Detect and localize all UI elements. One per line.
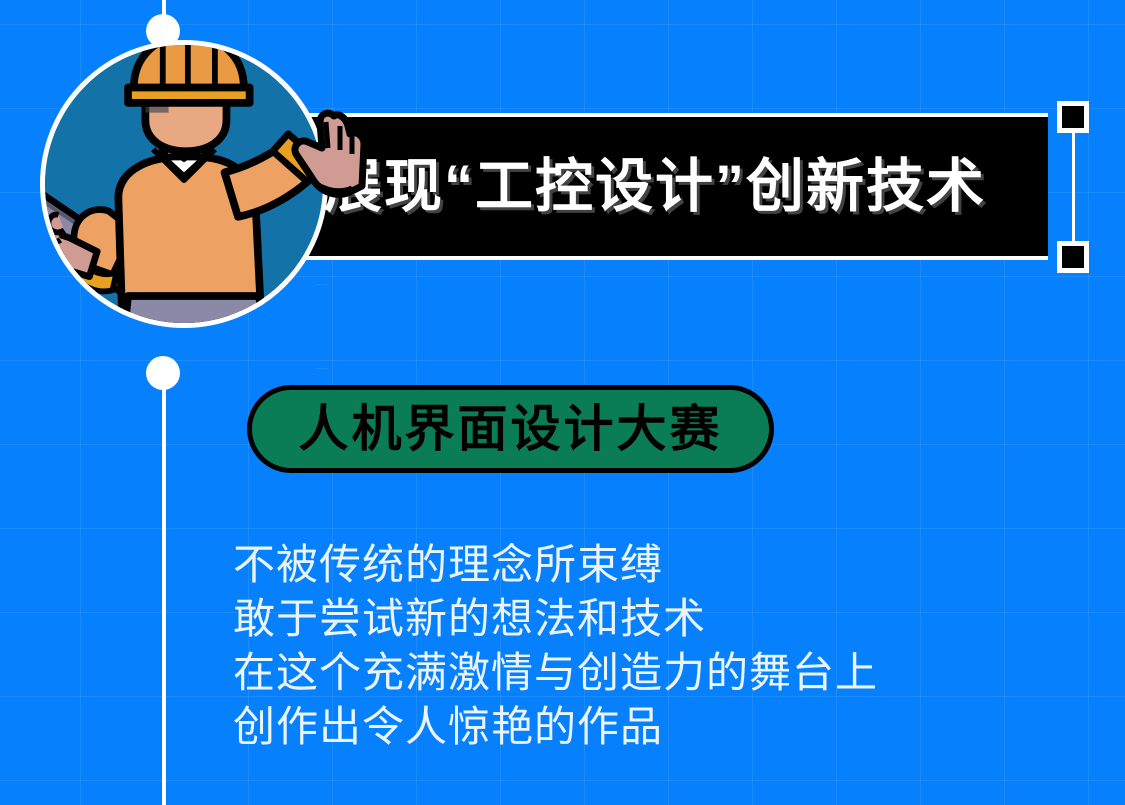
body-line-1: 不被传统的理念所束缚 (233, 538, 1033, 592)
decor-dot-middle-icon (146, 356, 180, 390)
selection-handle-bottom-right[interactable] (1057, 241, 1089, 273)
engineer-illustration (40, 40, 328, 328)
headline-text: 展现“工控设计”创新技术 (324, 158, 986, 216)
body-line-3: 在这个充满激情与创造力的舞台上 (233, 646, 1033, 700)
illustration-circle-frame (40, 40, 328, 328)
engineer-figure-icon (45, 45, 323, 323)
body-line-2: 敢于尝试新的想法和技术 (233, 592, 1033, 646)
body-paragraph: 不被传统的理念所束缚 敢于尝试新的想法和技术 在这个充满激情与创造力的舞台上 创… (233, 538, 1033, 754)
selection-handle-top-right[interactable] (1057, 101, 1089, 133)
badge-competition-title: 人机界面设计大赛 (247, 385, 774, 473)
poster-canvas: 展现“工控设计”创新技术 (0, 0, 1125, 805)
body-line-4: 创作出令人惊艳的作品 (233, 700, 1033, 754)
badge-text: 人机界面设计大赛 (299, 404, 723, 454)
headline-bar: 展现“工控设计”创新技术 (238, 113, 1048, 260)
